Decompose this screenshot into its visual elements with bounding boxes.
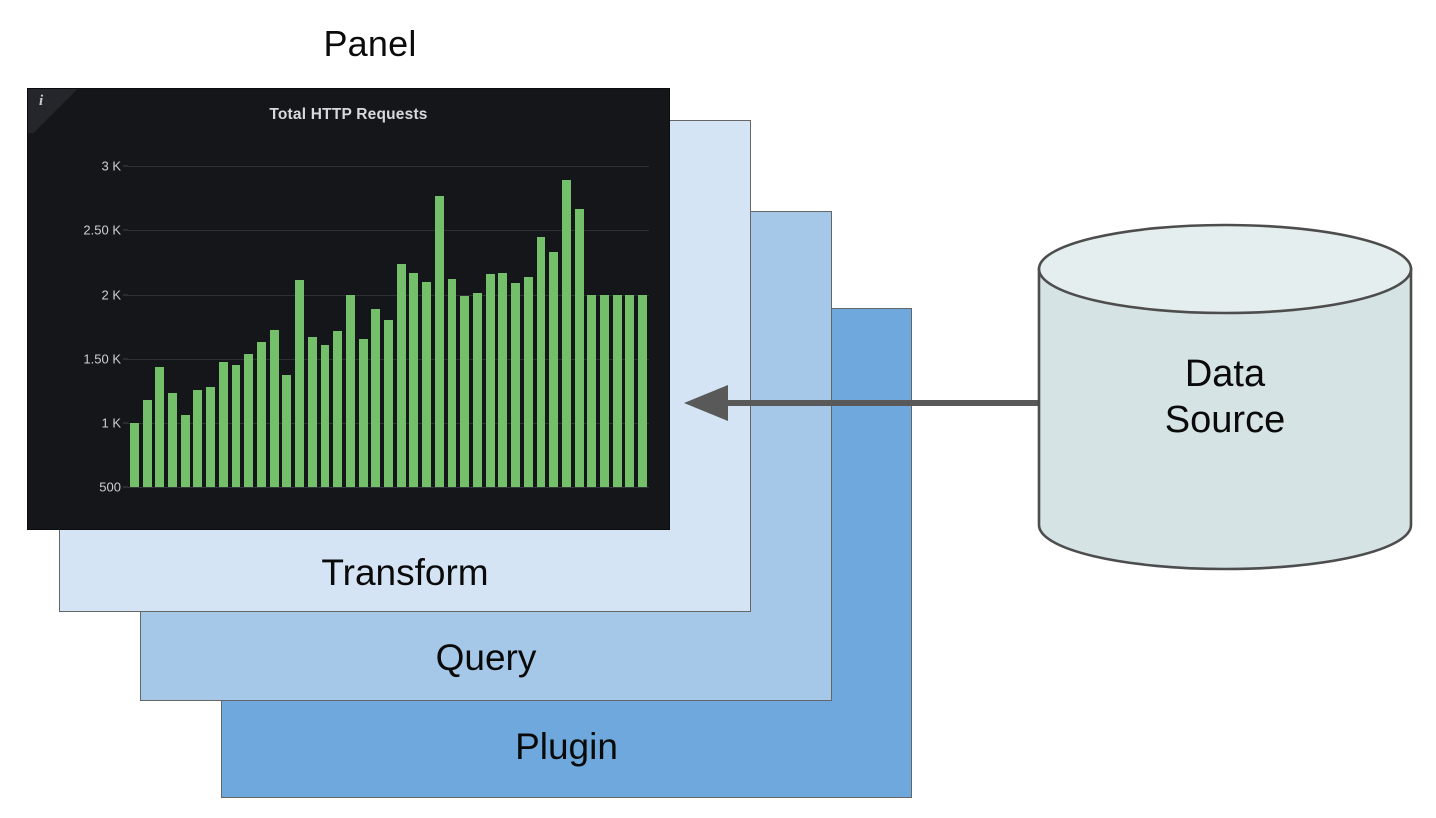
chart-bar (460, 296, 469, 487)
chart-bar (575, 209, 584, 487)
layer-label-transform: Transform (60, 551, 750, 595)
chart-bar (130, 423, 139, 487)
chart-bar (143, 400, 152, 487)
chart-bar (282, 375, 291, 487)
panel-chart-title: Total HTTP Requests (28, 106, 669, 124)
y-axis-tick-label: 3 K (101, 159, 121, 174)
chart-bar (371, 309, 380, 487)
chart-bar (511, 283, 520, 487)
chart-bar (257, 342, 266, 487)
chart-bar (435, 196, 444, 487)
chart-bar (638, 295, 647, 487)
chart-bar (613, 295, 622, 487)
chart-plot-inner: 3 K2.50 K2 K1.50 K1 K500 (128, 147, 649, 487)
chart-bar (308, 337, 317, 487)
grafana-panel[interactable]: i Total HTTP Requests 3 K2.50 K2 K1.50 K… (27, 88, 670, 530)
y-axis-tick-label: 1.50 K (83, 351, 121, 366)
chart-bar (359, 339, 368, 487)
cylinder-icon (1036, 222, 1414, 572)
chart-bar (168, 393, 177, 487)
layer-label-plugin: Plugin (222, 725, 911, 769)
chart-plot-area: 3 K2.50 K2 K1.50 K1 K500 (81, 147, 659, 487)
chart-bar (600, 295, 609, 487)
chart-bar (486, 274, 495, 487)
y-axis-tick-label: 2.50 K (83, 223, 121, 238)
chart-bar (448, 279, 457, 487)
chart-bar (181, 415, 190, 487)
chart-bar (625, 295, 634, 487)
y-axis-tick-label: 1 K (101, 415, 121, 430)
chart-bar (232, 365, 241, 487)
chart-bar (397, 264, 406, 487)
chart-bar (270, 330, 279, 487)
layer-label-query: Query (141, 636, 831, 680)
chart-bar (473, 293, 482, 487)
y-axis-tick-label: 500 (99, 480, 121, 495)
cylinder-top (1039, 225, 1411, 313)
chart-bar (333, 331, 342, 487)
chart-bar (549, 252, 558, 487)
chart-bar (384, 320, 393, 487)
data-source-node[interactable]: Data Source (1036, 222, 1414, 572)
chart-bar (193, 390, 202, 487)
chart-bar (422, 282, 431, 487)
chart-bar (321, 345, 330, 487)
y-axis-tick-label: 2 K (101, 287, 121, 302)
chart-bar (346, 295, 355, 487)
chart-bar (244, 354, 253, 487)
chart-bar (537, 237, 546, 487)
info-icon[interactable]: i (39, 93, 43, 110)
chart-bar (524, 277, 533, 487)
chart-bar (295, 280, 304, 487)
page-title: Panel (230, 22, 510, 66)
chart-axis-line (128, 487, 649, 488)
chart-bar (587, 295, 596, 487)
chart-bars (128, 147, 649, 487)
chart-bar (219, 362, 228, 487)
chart-bar (155, 367, 164, 487)
chart-bar (206, 387, 215, 487)
chart-bar (498, 273, 507, 487)
chart-bar (409, 273, 418, 487)
chart-bar (562, 180, 571, 487)
